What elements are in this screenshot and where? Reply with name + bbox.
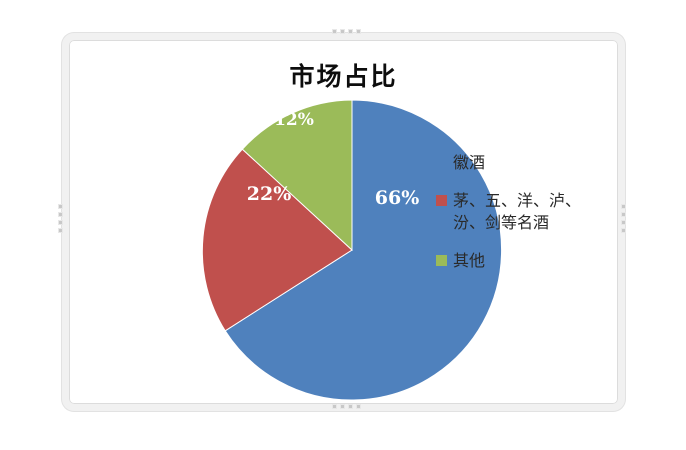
chart-title: 市场占比 <box>69 57 618 93</box>
pie-label-famous-brands: 22% <box>247 183 292 205</box>
chart-plot-area: 市场占比 66% 22% 12% 徽酒 茅、五、洋、泸、汾、剑等名 <box>69 40 618 404</box>
chart-legend: 徽酒 茅、五、洋、泸、汾、剑等名酒 其他 <box>436 152 616 274</box>
grip-dot <box>58 228 63 233</box>
legend-item-famous-brands[interactable]: 茅、五、洋、泸、汾、剑等名酒 <box>436 190 616 234</box>
frame-grip-top[interactable] <box>332 29 361 34</box>
pie-label-huijiu: 66% <box>375 187 420 209</box>
chart-object-frame[interactable]: 市场占比 66% 22% 12% 徽酒 茅、五、洋、泸、汾、剑等名 <box>62 33 625 411</box>
legend-item-label: 其他 <box>453 250 603 272</box>
frame-grip-left[interactable] <box>58 204 63 233</box>
grip-dot <box>332 404 337 409</box>
grip-dot <box>621 220 626 225</box>
legend-item-other[interactable]: 其他 <box>436 250 616 272</box>
legend-item-label: 茅、五、洋、泸、汾、剑等名酒 <box>453 190 603 234</box>
pie-label-other: 12% <box>274 110 314 130</box>
grip-dot <box>356 404 361 409</box>
grip-dot <box>621 228 626 233</box>
grip-dot <box>356 29 361 34</box>
legend-swatch-icon <box>436 255 447 266</box>
frame-grip-right[interactable] <box>621 204 626 233</box>
grip-dot <box>58 204 63 209</box>
grip-dot <box>621 204 626 209</box>
grip-dot <box>58 212 63 217</box>
frame-grip-bottom[interactable] <box>332 404 361 409</box>
legend-swatch-icon <box>436 195 447 206</box>
grip-dot <box>621 212 626 217</box>
grip-dot <box>58 220 63 225</box>
grip-dot <box>348 29 353 34</box>
grip-dot <box>340 404 345 409</box>
grip-dot <box>348 404 353 409</box>
grip-dot <box>340 29 345 34</box>
grip-dot <box>332 29 337 34</box>
legend-item-label: 徽酒 <box>453 152 603 174</box>
legend-swatch-icon <box>436 157 447 168</box>
legend-item-huijiu[interactable]: 徽酒 <box>436 152 616 174</box>
